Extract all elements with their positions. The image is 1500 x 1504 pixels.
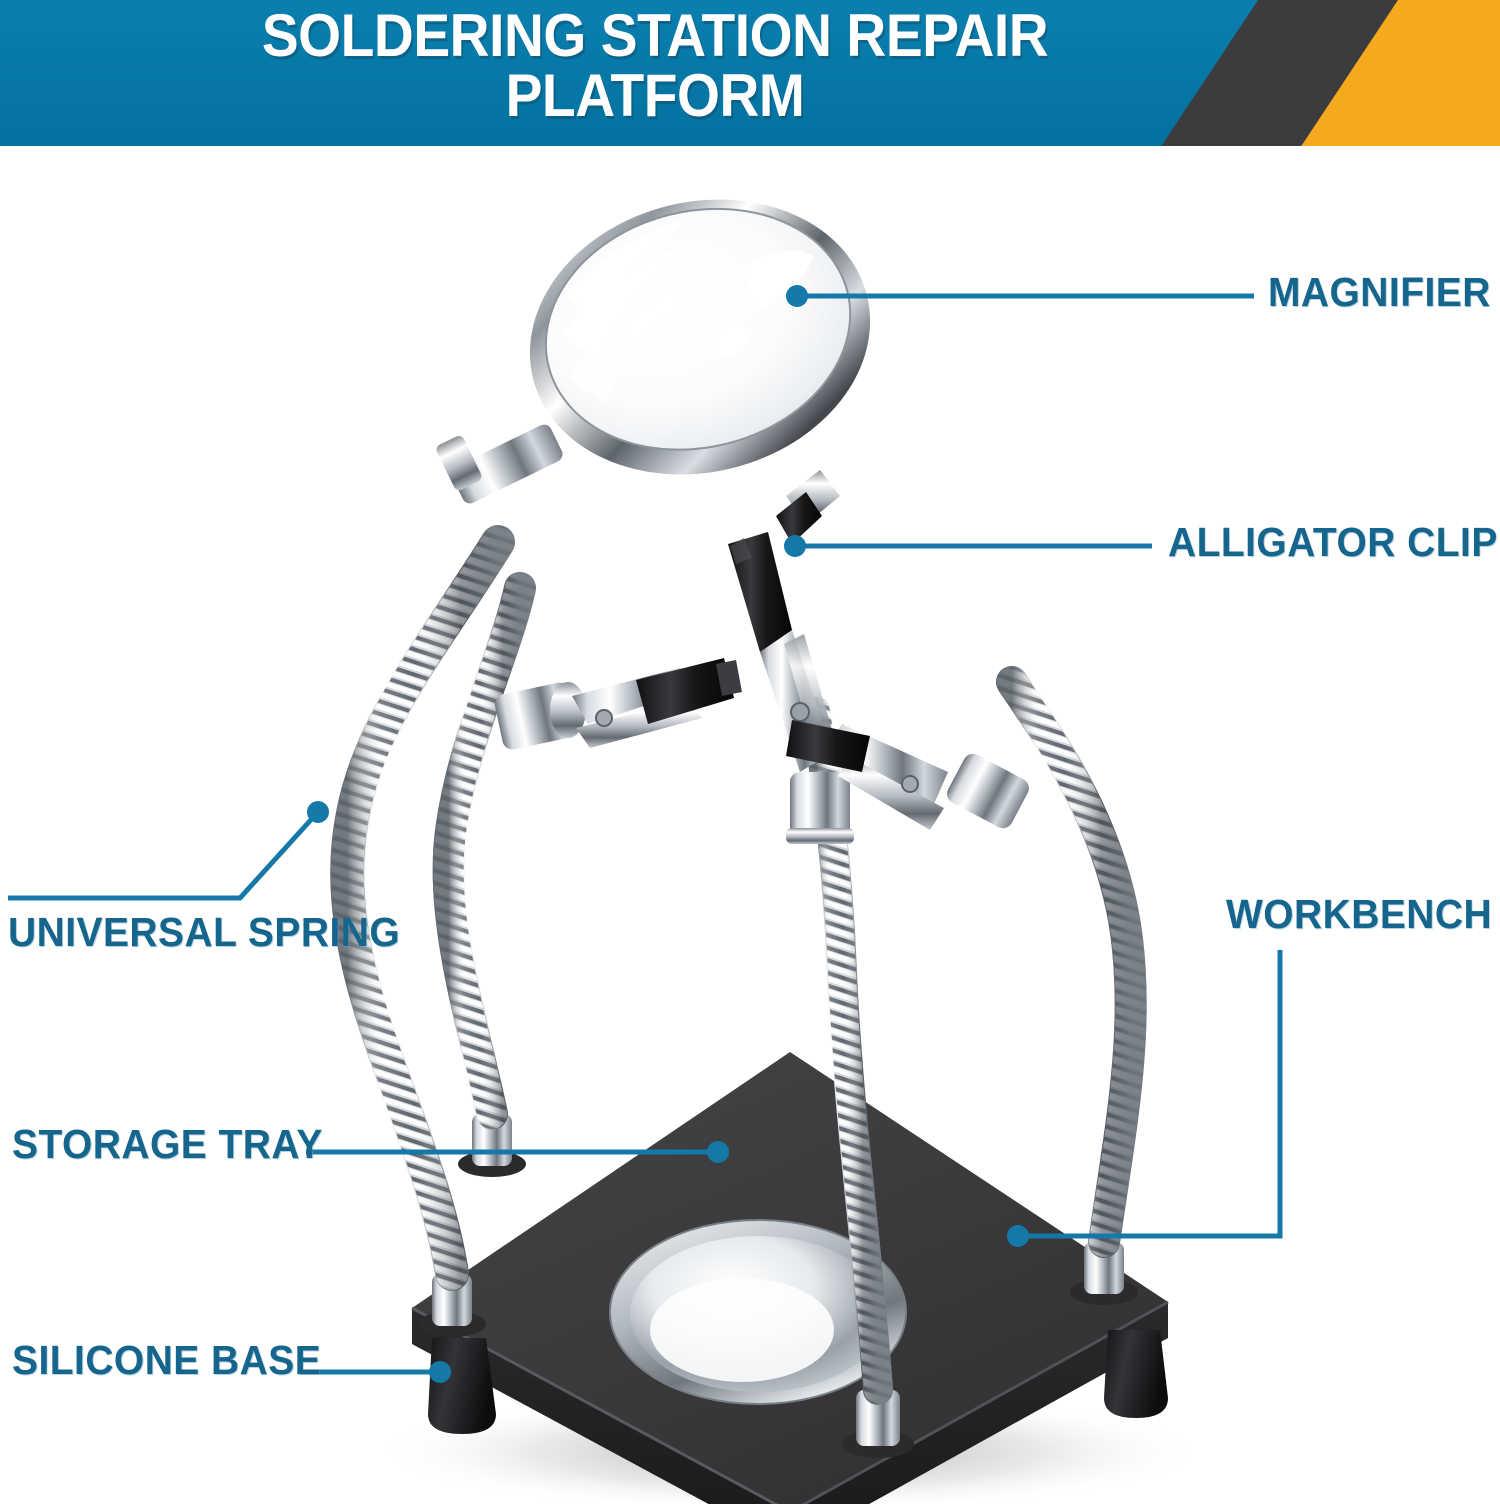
magnifier-lens — [435, 164, 900, 509]
clip-pivot-rivet-left — [596, 710, 612, 726]
callout-label-storage-tray: STORAGE TRAY — [12, 1122, 323, 1166]
silicone-foot-left — [428, 1338, 496, 1434]
silicone-foot-right — [1104, 1330, 1168, 1418]
gooseneck-arm-right-clip — [1012, 682, 1131, 1242]
tray-inner-reflection — [650, 1278, 834, 1382]
gooseneck-arm-left-clip — [449, 588, 520, 1114]
alligator-clip-center — [728, 532, 854, 844]
callout-label-workbench: WORKBENCH — [1226, 892, 1492, 936]
alligator-clip-left — [493, 658, 742, 751]
clip-barrel-right — [944, 750, 1033, 831]
clip-pivot-rivet-right — [902, 776, 918, 792]
callout-label-alligator-clip: ALLIGATOR CLIP — [1168, 520, 1498, 564]
product-illustration — [0, 152, 1500, 1504]
callout-label-magnifier: MAGNIFIER — [1268, 270, 1491, 314]
clip-barrel-ring-center — [786, 828, 854, 844]
callout-label-silicone-base: SILICONE BASE — [12, 1338, 321, 1382]
clip-pivot-rivet-center — [791, 703, 809, 721]
callout-label-universal-spring: UNIVERSAL SPRING — [8, 910, 400, 954]
banner-background — [0, 0, 1500, 152]
soldering-station-graphic — [0, 152, 1500, 1504]
header-banner: SOLDERING STATION REPAIR PLATFORM — [0, 0, 1500, 152]
